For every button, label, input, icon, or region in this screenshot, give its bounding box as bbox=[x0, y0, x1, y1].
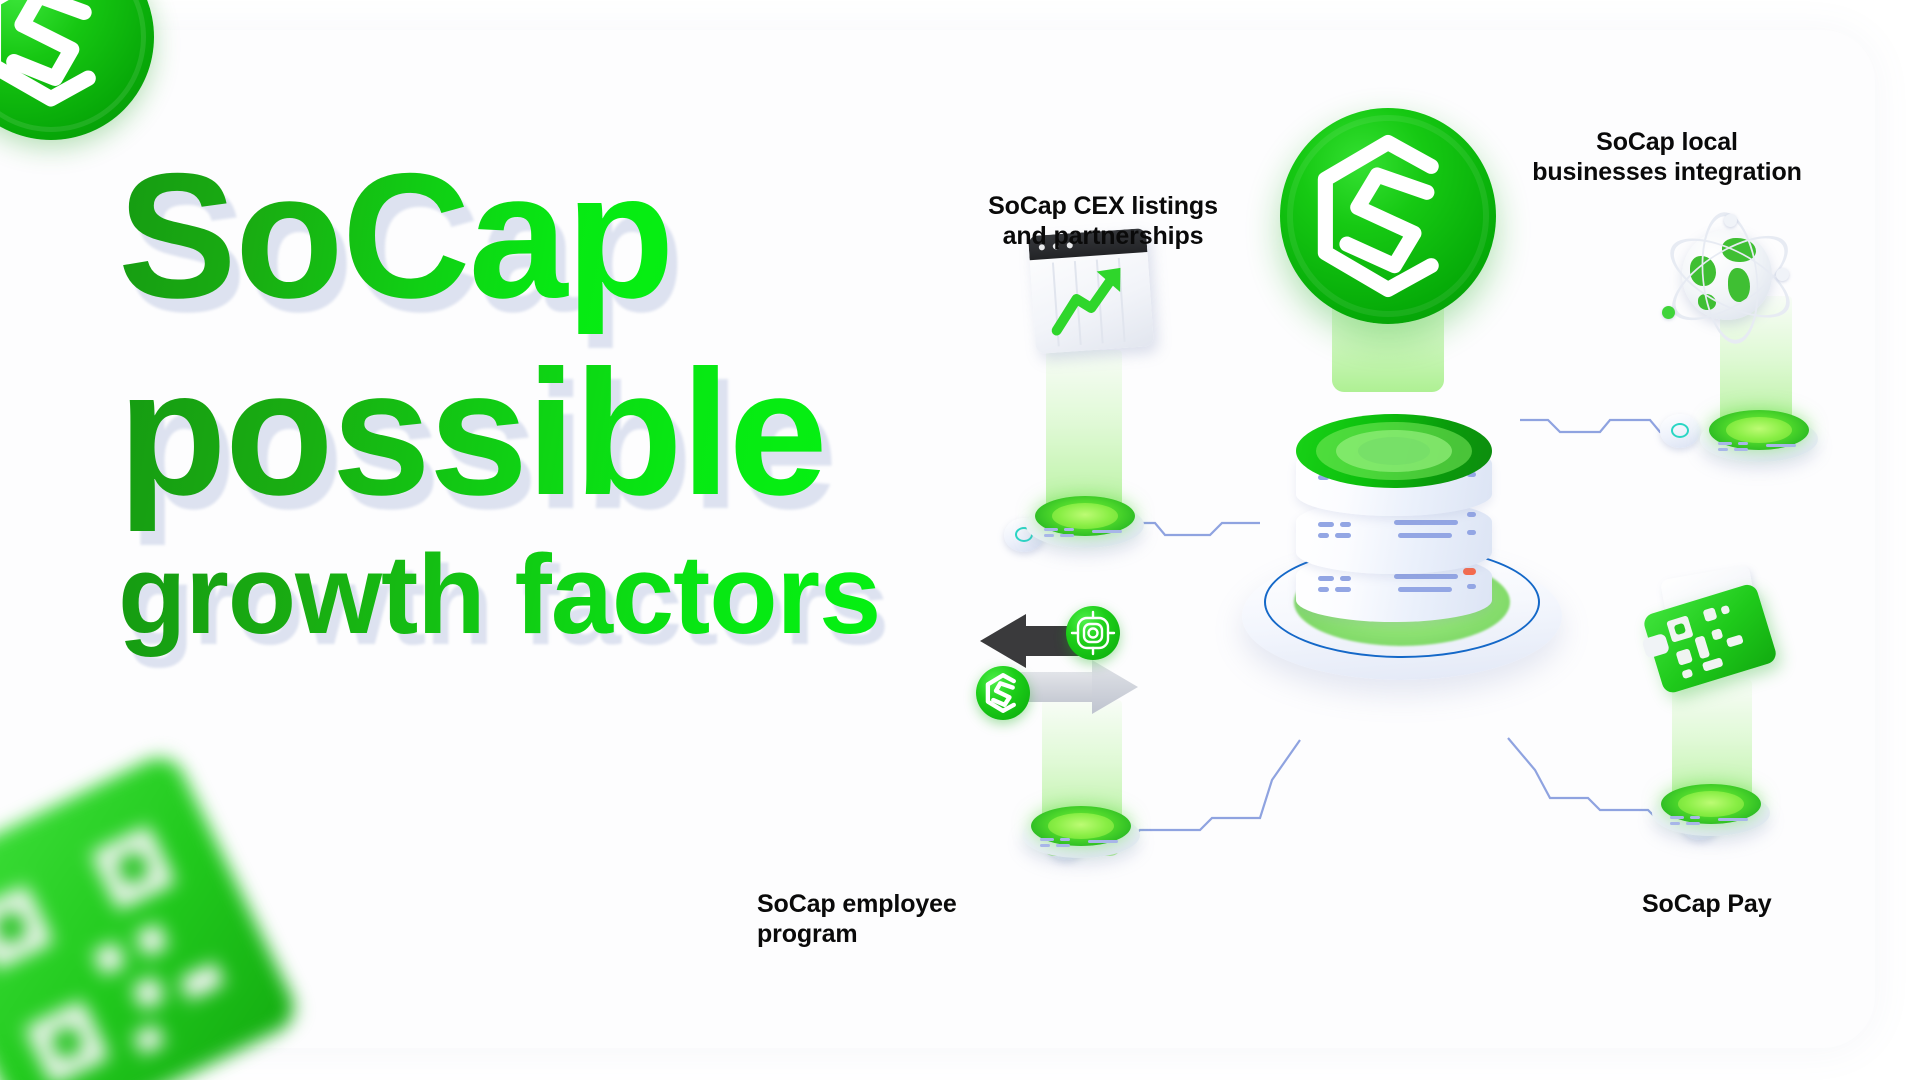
socap-hex-s-logo-icon bbox=[1280, 108, 1496, 324]
platform-inner bbox=[1052, 503, 1118, 529]
socap-hex-s-logo-glyph bbox=[976, 666, 1030, 720]
server-led-indicator bbox=[1463, 568, 1476, 575]
platform-disc-icon bbox=[1026, 492, 1144, 548]
node-ring bbox=[1671, 423, 1689, 438]
slide-canvas: SoCap SoCap possible possible growth fac… bbox=[0, 0, 1920, 1080]
headline-line-3: growth factors growth factors bbox=[118, 541, 938, 650]
headline-line-3-text: growth factors bbox=[118, 532, 880, 657]
platform-inner bbox=[1048, 813, 1114, 839]
server-top-rings bbox=[1296, 414, 1492, 488]
two-way-arrows-icon bbox=[980, 614, 1160, 744]
label-cex: SoCap CEX listings and partnerships bbox=[953, 192, 1253, 251]
socap-coin-icon bbox=[0, 0, 154, 140]
server-lines bbox=[1394, 520, 1472, 554]
page-title: SoCap SoCap possible possible growth fac… bbox=[118, 150, 938, 650]
platform-disc-icon bbox=[1700, 406, 1818, 462]
server-bits bbox=[1318, 522, 1378, 548]
socap-coin-icon bbox=[1280, 108, 1496, 324]
orbit-knob bbox=[1724, 214, 1737, 227]
globe-atom-icon bbox=[1664, 212, 1796, 344]
platform-dashes bbox=[1044, 528, 1126, 540]
qr-card-front bbox=[1642, 582, 1779, 695]
platform-disc-icon bbox=[1022, 802, 1140, 858]
server-cylinder bbox=[1296, 358, 1492, 594]
fingerprint-glyph bbox=[1066, 606, 1120, 660]
server-led-indicator bbox=[1467, 584, 1476, 589]
headline-line-2: possible possible bbox=[118, 347, 938, 520]
orbit-knob bbox=[1776, 268, 1789, 281]
label-local: SoCap local businesses integration bbox=[1512, 128, 1822, 187]
headline-line-1: SoCap SoCap bbox=[118, 150, 938, 323]
fingerprint-target-icon bbox=[1066, 606, 1120, 660]
socap-hex-s-logo-icon bbox=[0, 0, 154, 140]
platform-dashes bbox=[1670, 816, 1752, 828]
label-pay: SoCap Pay bbox=[1642, 890, 1872, 920]
server-lines bbox=[1394, 574, 1472, 608]
socap-hex-s-logo-icon bbox=[976, 666, 1030, 720]
arrow-head bbox=[1092, 660, 1138, 714]
server-led-indicator bbox=[1467, 530, 1476, 535]
headline-line-1-text: SoCap bbox=[118, 136, 673, 335]
server-stack-icon bbox=[1232, 358, 1572, 688]
platform-dashes bbox=[1718, 442, 1800, 454]
label-employee: SoCap employee program bbox=[757, 890, 1047, 949]
orbit-ring bbox=[1696, 209, 1765, 346]
platform-dashes bbox=[1040, 838, 1122, 850]
server-led-indicator bbox=[1467, 512, 1476, 517]
arrow-right-icon bbox=[1014, 660, 1138, 714]
platform-inner bbox=[1726, 417, 1792, 443]
platform-disc-icon bbox=[1652, 780, 1770, 836]
platform-inner bbox=[1678, 791, 1744, 817]
orbit-knob bbox=[1662, 306, 1675, 319]
wire-node-icon bbox=[1660, 414, 1700, 448]
server-bits bbox=[1318, 576, 1378, 602]
headline-line-2-text: possible bbox=[118, 333, 826, 532]
